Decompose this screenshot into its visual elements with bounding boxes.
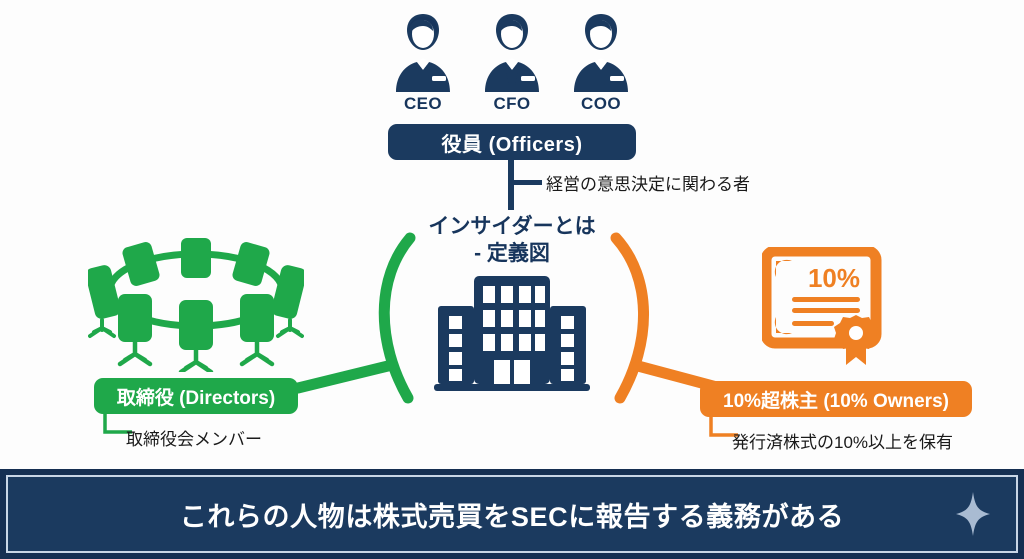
certificate-icon: 10% [762, 247, 886, 365]
businessman-icon [562, 8, 640, 92]
officers-note: 経営の意思決定に関わる者 [546, 170, 750, 195]
certificate-value: 10% [808, 263, 860, 293]
directors-note: 取締役会メンバー [126, 425, 262, 450]
officer-label-ceo: CEO [384, 94, 462, 114]
conference-table-icon [88, 232, 304, 372]
officer-figure-cfo [473, 8, 551, 92]
bottom-banner-inner: これらの人物は株式売買をSECに報告する義務がある [6, 475, 1018, 553]
owners-badge[interactable]: 10%超株主 (10% Owners) [700, 381, 972, 417]
officers-connector-stem [508, 160, 514, 210]
officer-figure-ceo [384, 8, 462, 92]
owners-note: 発行済株式の10%以上を保有 [732, 428, 953, 453]
officers-connector-tick [514, 180, 542, 185]
bottom-banner-text: これらの人物は株式売買をSECに報告する義務がある [180, 495, 845, 534]
officer-figures-row [384, 8, 640, 92]
sparkle-icon [956, 492, 990, 536]
officer-figure-coo [562, 8, 640, 92]
center-title: インサイダーとは - 定義図 [393, 214, 631, 268]
office-building-icon [432, 272, 592, 392]
officers-badge[interactable]: 役員 (Officers) [388, 124, 636, 160]
officer-label-cfo: CFO [473, 94, 551, 114]
infographic-canvas: CEO CFO COO 役員 (Officers) 経営の意思決定に関わる者 イ… [0, 0, 1024, 559]
officer-label-coo: COO [562, 94, 640, 114]
bottom-banner: これらの人物は株式売買をSECに報告する義務がある [0, 469, 1024, 559]
directors-badge[interactable]: 取締役 (Directors) [94, 378, 298, 414]
businessman-icon [384, 8, 462, 92]
businessman-icon [473, 8, 551, 92]
officer-labels-row: CEO CFO COO [384, 94, 640, 114]
green-branch [298, 366, 388, 388]
